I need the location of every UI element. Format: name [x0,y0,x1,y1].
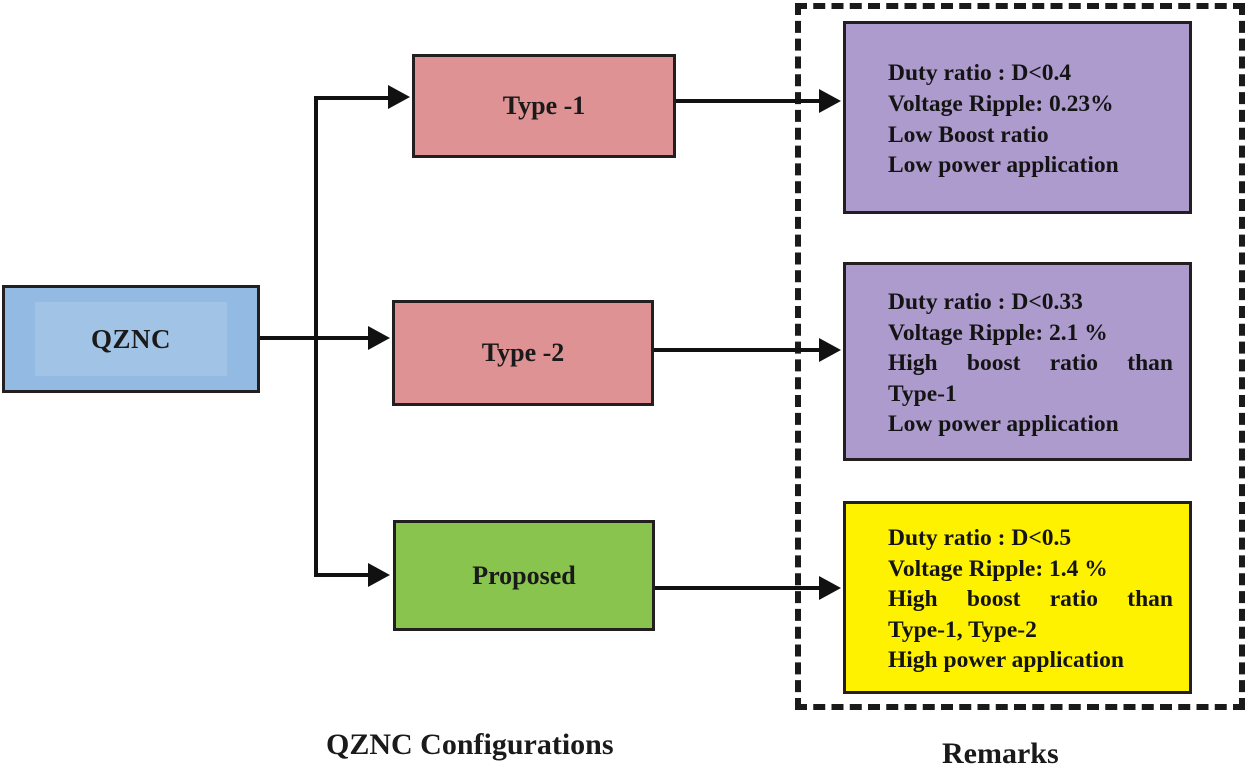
remark-line: Voltage Ripple: 1.4 % [888,554,1173,585]
node-qznc-label: QZNC [91,324,171,355]
remark-line: Duty ratio : D<0.4 [888,58,1173,89]
arrowhead-to-remark2 [819,338,841,362]
arrowhead-to-proposed [368,563,390,587]
arrowhead-to-type1 [388,85,410,109]
node-proposed[interactable]: Proposed [393,520,655,631]
remark-line: Low power application [888,150,1173,181]
arrowhead-to-type2 [368,326,390,350]
remark-word: High [888,348,938,379]
arrowhead-to-remark3 [819,576,841,600]
wire-proposed-to-remark3 [655,586,821,590]
wire-root-to-trunk [260,336,318,340]
diagram-canvas: QZNC Type -1 Type -2 Proposed Duty ratio… [0,0,1253,776]
wire-type1-to-remark1 [676,99,821,103]
node-type-1[interactable]: Type -1 [412,54,676,158]
remark-word: ratio [1050,584,1098,615]
remark-line: Duty ratio : D<0.33 [888,287,1173,318]
remark-word: than [1127,348,1173,379]
remark-word: ratio [1050,348,1098,379]
remark-word: High [888,584,938,615]
remark-line: Low Boost ratio [888,120,1173,151]
remark-box-type-1: Duty ratio : D<0.4 Voltage Ripple: 0.23%… [843,21,1192,214]
remark-box-proposed: Duty ratio : D<0.5 Voltage Ripple: 1.4 %… [843,501,1192,694]
node-qznc[interactable]: QZNC [2,285,260,393]
node-proposed-label: Proposed [472,561,576,591]
node-type-2[interactable]: Type -2 [392,300,654,406]
wire-trunk-to-proposed [314,573,372,577]
node-type-1-label: Type -1 [503,91,586,121]
caption-qznc-configurations: QZNC Configurations [326,728,614,762]
wire-trunk-to-type1 [314,96,392,100]
arrowhead-to-remark1 [819,89,841,113]
wire-trunk-to-type2 [314,336,372,340]
remark-line: Type-1 [888,379,1173,410]
remark-line: Highboostratiothan [888,348,1173,379]
remark-line: Type-1, Type-2 [888,615,1173,646]
remark-line: Duty ratio : D<0.5 [888,523,1173,554]
remark-word: boost [967,348,1021,379]
node-type-2-label: Type -2 [482,338,565,368]
remark-line: Voltage Ripple: 0.23% [888,89,1173,120]
remark-word: boost [967,584,1021,615]
remark-word: than [1127,584,1173,615]
remark-line: High power application [888,645,1173,676]
remark-line: Low power application [888,409,1173,440]
remark-line: Voltage Ripple: 2.1 % [888,318,1173,349]
remark-box-type-2: Duty ratio : D<0.33 Voltage Ripple: 2.1 … [843,262,1192,461]
caption-remarks: Remarks [942,737,1059,771]
wire-type2-to-remark2 [654,348,821,352]
remark-line: Highboostratiothan [888,584,1173,615]
